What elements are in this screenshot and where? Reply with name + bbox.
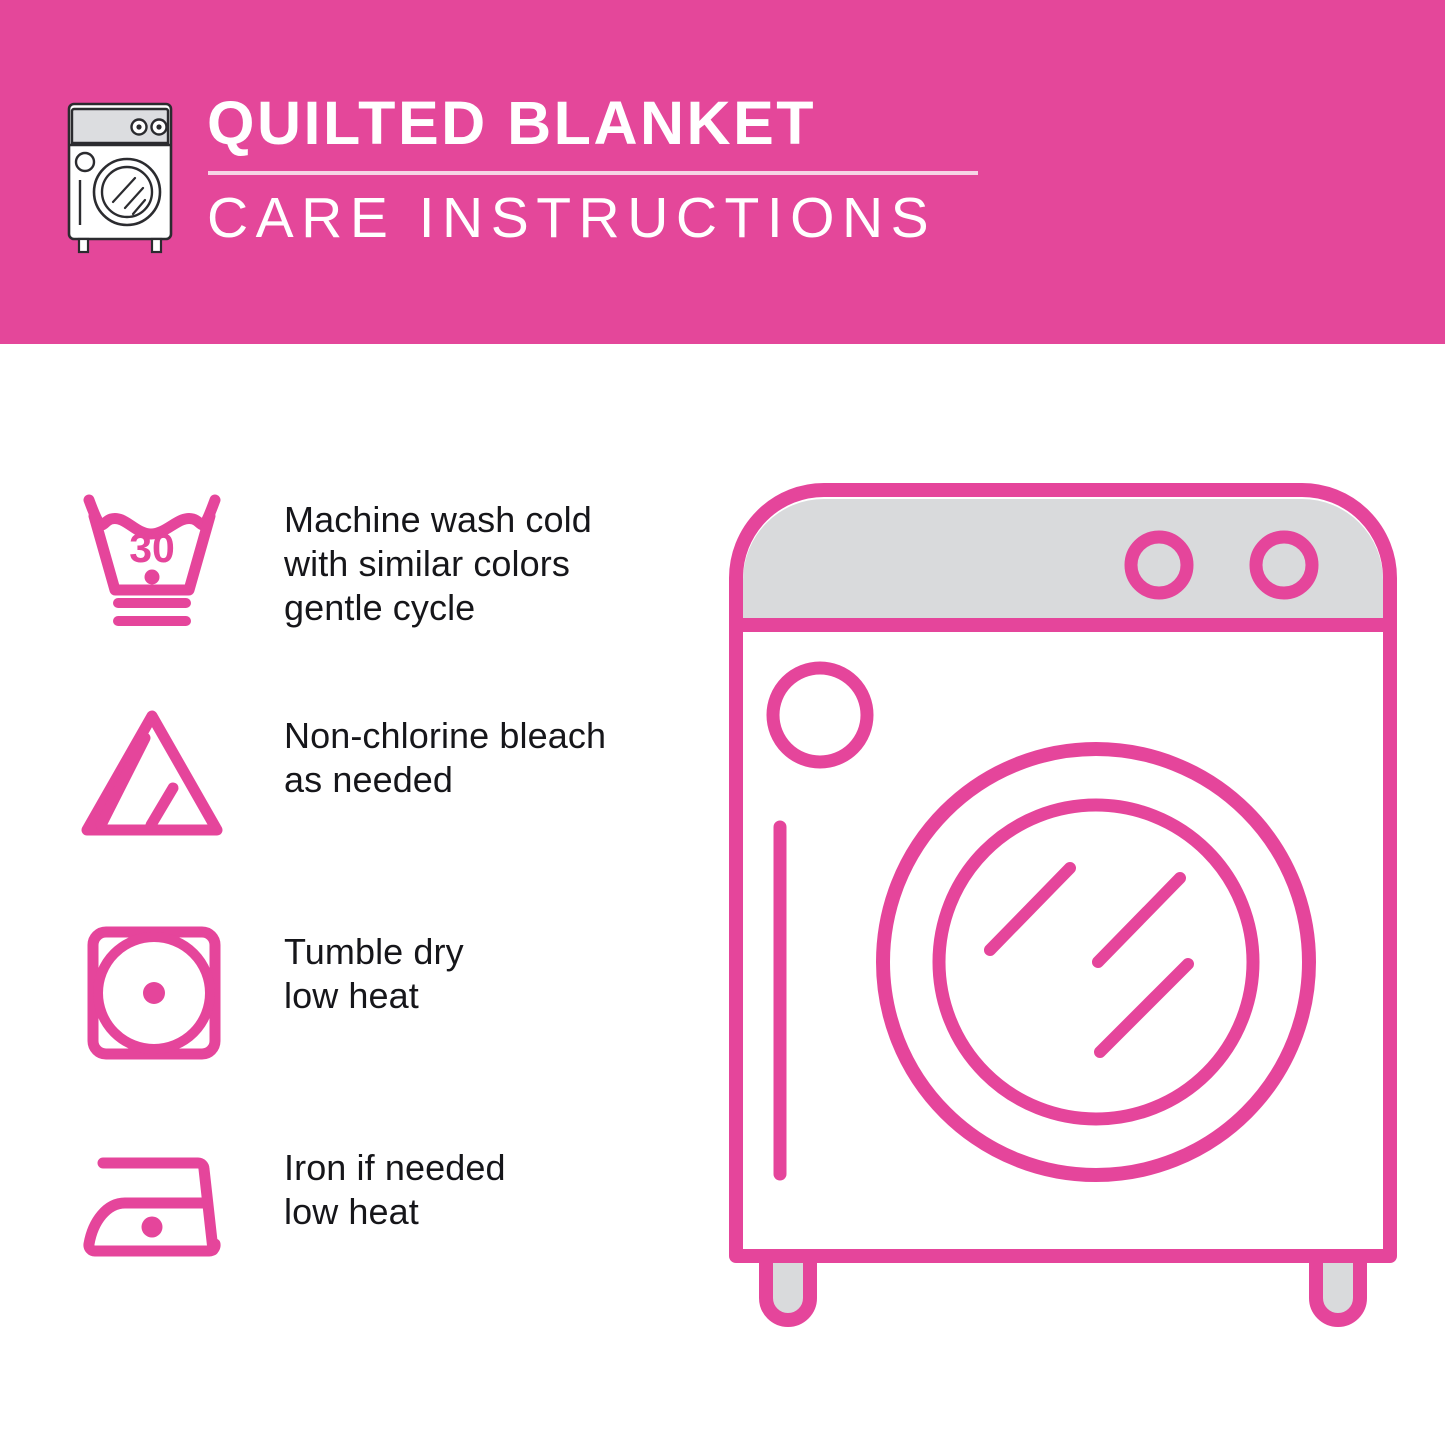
non-chlorine-bleach-triangle-icon — [62, 694, 252, 864]
care-line: as needed — [284, 758, 702, 802]
care-label-tumble-dry: Tumble dry low heat — [252, 910, 702, 1018]
page-subtitle: CARE INSTRUCTIONS — [207, 189, 978, 247]
wash-dot-icon — [145, 570, 160, 585]
iron-dot-icon — [142, 1217, 163, 1238]
header-banner: QUILTED BLANKET CARE INSTRUCTIONS — [0, 0, 1445, 344]
care-row-bleach: Non-chlorine bleach as needed — [62, 694, 702, 910]
care-line: Non-chlorine bleach — [284, 714, 702, 758]
care-line: gentle cycle — [284, 586, 702, 630]
washing-machine-icon — [55, 94, 185, 254]
title-block: QUILTED BLANKET CARE INSTRUCTIONS — [207, 88, 978, 247]
care-line: Tumble dry — [284, 930, 702, 974]
page-title: QUILTED BLANKET — [207, 92, 978, 154]
wash-temperature-label: 30 — [129, 525, 175, 571]
care-line: Iron if needed — [284, 1146, 702, 1190]
title-divider — [208, 171, 978, 175]
care-label-bleach: Non-chlorine bleach as needed — [252, 694, 702, 802]
machine-wash-30-icon: 30 — [62, 478, 252, 648]
care-row-tumble-dry: Tumble dry low heat — [62, 910, 702, 1126]
care-label-iron: Iron if needed low heat — [252, 1126, 702, 1234]
tumble-dry-dot-icon — [143, 982, 165, 1004]
care-line: low heat — [284, 1190, 702, 1234]
care-row-machine-wash: 30 Machine wash cold with similar colors… — [62, 478, 702, 694]
iron-low-icon — [62, 1126, 252, 1296]
header-content: QUILTED BLANKET CARE INSTRUCTIONS — [55, 88, 978, 254]
care-line: Machine wash cold — [284, 498, 702, 542]
care-line: low heat — [284, 974, 702, 1018]
tumble-dry-low-icon — [62, 910, 252, 1080]
control-panel — [743, 499, 1383, 625]
care-symbol-list: 30 Machine wash cold with similar colors… — [62, 478, 702, 1342]
care-line: with similar colors — [284, 542, 702, 586]
front-load-washing-machine-illustration — [718, 470, 1408, 1370]
care-instructions-infographic: QUILTED BLANKET CARE INSTRUCTIONS 30 — [0, 0, 1445, 1445]
care-row-iron: Iron if needed low heat — [62, 1126, 702, 1342]
care-label-machine-wash: Machine wash cold with similar colors ge… — [252, 478, 702, 630]
